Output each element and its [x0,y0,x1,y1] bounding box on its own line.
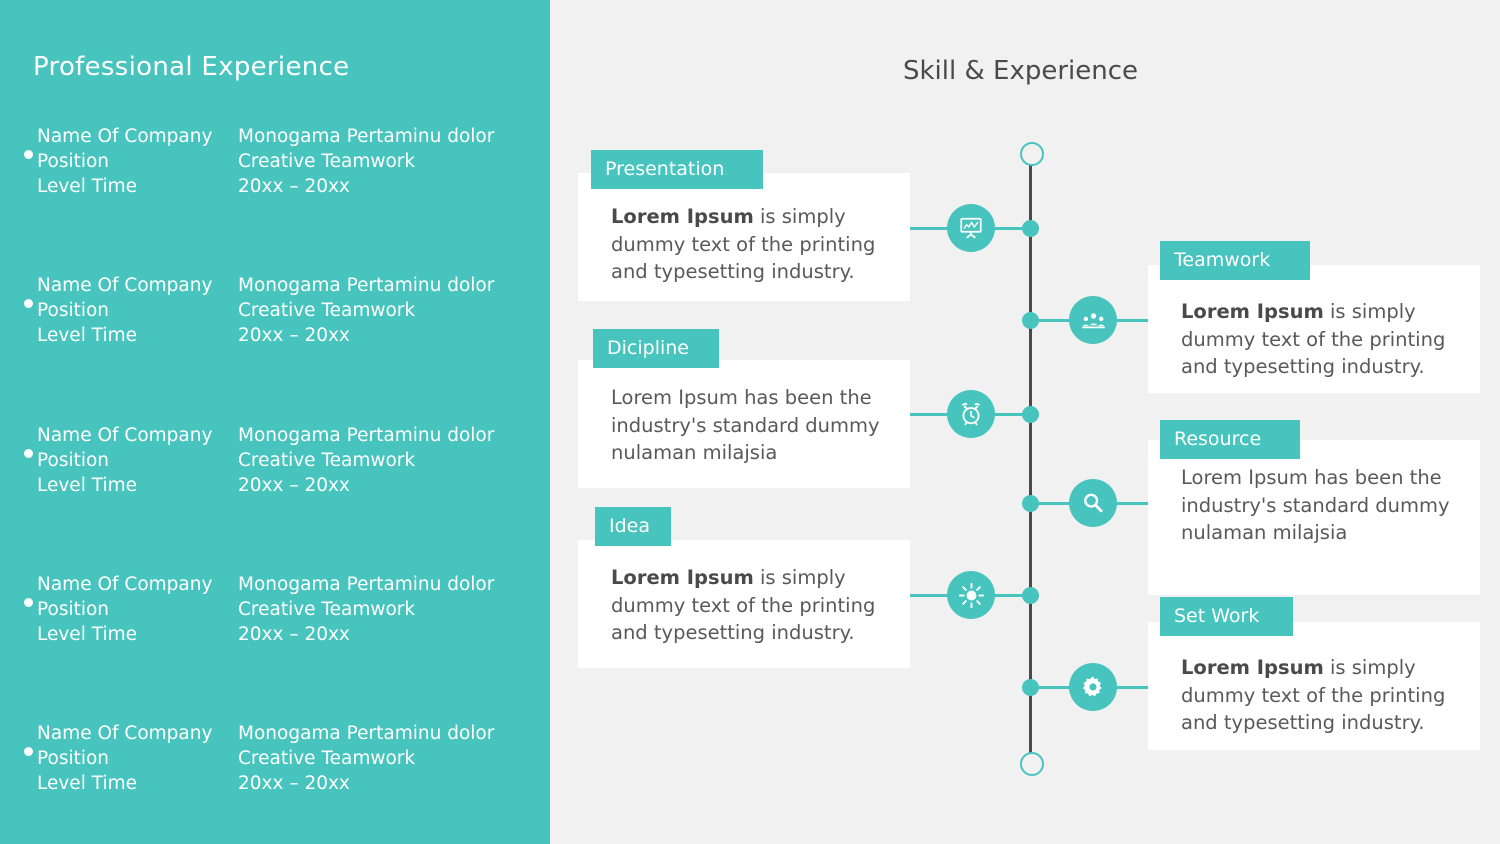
row-label: Name Of Company [37,721,212,746]
timeline-start-node-icon [1020,142,1044,166]
row-label: Level Time [37,771,137,796]
team-people-icon[interactable] [1069,296,1117,344]
row-value: 20xx – 20xx [238,473,350,498]
row-label: Level Time [37,174,137,199]
experience-row-position: Position Creative Teamwork [37,597,547,622]
experience-row-company: Name Of Company Monogama Pertaminu dolor [37,423,547,448]
skill-card-label-presentation: Presentation [591,150,763,189]
row-value: 20xx – 20xx [238,174,350,199]
row-value: Creative Teamwork [238,597,415,622]
row-value: 20xx – 20xx [238,771,350,796]
skill-card-label-teamwork: Teamwork [1160,241,1310,280]
experience-row-position: Position Creative Teamwork [37,149,547,174]
magnifier-icon[interactable] [1069,479,1117,527]
skill-card-text-resource: Lorem Ipsum has been the industry's stan… [1181,464,1476,547]
timeline-end-node-icon [1020,752,1044,776]
row-value: Monogama Pertaminu dolor [238,273,494,298]
skill-card-text-idea: Lorem Ipsum is simply dummy text of the … [611,564,881,647]
row-value: Creative Teamwork [238,149,415,174]
experience-row-time: Level Time 20xx – 20xx [37,473,547,498]
card-lead-text: Lorem Ipsum [611,566,754,589]
bullet-dot-icon [24,449,33,458]
alarm-clock-icon[interactable] [947,390,995,438]
skill-card-label-idea: Idea [595,507,671,546]
experience-row-position: Position Creative Teamwork [37,746,547,771]
bullet-dot-icon [24,299,33,308]
experience-list-item: Name Of Company Monogama Pertaminu dolor… [24,423,544,499]
row-value: Monogama Pertaminu dolor [238,572,494,597]
experience-row-position: Position Creative Teamwork [37,298,547,323]
row-label: Position [37,298,109,323]
card-rest-text: Lorem Ipsum has been the industry's stan… [1181,466,1450,544]
experience-row-company: Name Of Company Monogama Pertaminu dolor [37,572,547,597]
skill-card-text-teamwork: Lorem Ipsum is simply dummy text of the … [1181,298,1451,381]
card-lead-text: Lorem Ipsum [1181,656,1324,679]
card-lead-text: Lorem Ipsum [1181,300,1324,323]
experience-row-position: Position Creative Teamwork [37,448,547,473]
skill-card-label-dicipline: Dicipline [593,329,719,368]
skill-card-label-setwork: Set Work [1160,597,1293,636]
experience-row-company: Name Of Company Monogama Pertaminu dolor [37,124,547,149]
row-value: Monogama Pertaminu dolor [238,721,494,746]
row-value: 20xx – 20xx [238,622,350,647]
row-label: Level Time [37,473,137,498]
experience-row-time: Level Time 20xx – 20xx [37,622,547,647]
experience-list-item: Name Of Company Monogama Pertaminu dolor… [24,273,544,349]
page-title-skill-experience: Skill & Experience [903,56,1138,86]
row-value: Monogama Pertaminu dolor [238,423,494,448]
bullet-dot-icon [24,150,33,159]
skill-card-text-presentation: Lorem Ipsum is simply dummy text of the … [611,203,881,286]
skill-card-label-resource: Resource [1160,420,1300,459]
row-value: Creative Teamwork [238,298,415,323]
professional-experience-panel: Professional Experience Name Of Company … [0,0,550,844]
row-label: Position [37,746,109,771]
experience-list-item: Name Of Company Monogama Pertaminu dolor… [24,124,544,200]
experience-list-item: Name Of Company Monogama Pertaminu dolor… [24,572,544,648]
presentation-board-icon[interactable] [947,204,995,252]
experience-list-item: Name Of Company Monogama Pertaminu dolor… [24,721,544,797]
card-lead-text: Lorem Ipsum [611,205,754,228]
row-label: Name Of Company [37,273,212,298]
experience-row-time: Level Time 20xx – 20xx [37,323,547,348]
skill-card-text-setwork: Lorem Ipsum is simply dummy text of the … [1181,654,1451,737]
bullet-dot-icon [24,598,33,607]
sun-idea-icon[interactable] [947,571,995,619]
slide-canvas: Professional Experience Name Of Company … [0,0,1500,844]
page-title-professional-experience: Professional Experience [33,52,349,82]
row-value: Monogama Pertaminu dolor [238,124,494,149]
row-label: Position [37,597,109,622]
experience-row-company: Name Of Company Monogama Pertaminu dolor [37,273,547,298]
row-value: Creative Teamwork [238,746,415,771]
experience-row-time: Level Time 20xx – 20xx [37,174,547,199]
row-label: Position [37,448,109,473]
gear-icon[interactable] [1069,663,1117,711]
bullet-dot-icon [24,747,33,756]
row-label: Position [37,149,109,174]
skill-card-text-dicipline: Lorem Ipsum has been the industry's stan… [611,384,889,467]
experience-row-time: Level Time 20xx – 20xx [37,771,547,796]
row-label: Name Of Company [37,572,212,597]
timeline-spine [1029,152,1032,764]
row-label: Level Time [37,323,137,348]
row-value: Creative Teamwork [238,448,415,473]
experience-row-company: Name Of Company Monogama Pertaminu dolor [37,721,547,746]
row-label: Level Time [37,622,137,647]
card-rest-text: Lorem Ipsum has been the industry's stan… [611,386,880,464]
row-label: Name Of Company [37,124,212,149]
row-label: Name Of Company [37,423,212,448]
row-value: 20xx – 20xx [238,323,350,348]
